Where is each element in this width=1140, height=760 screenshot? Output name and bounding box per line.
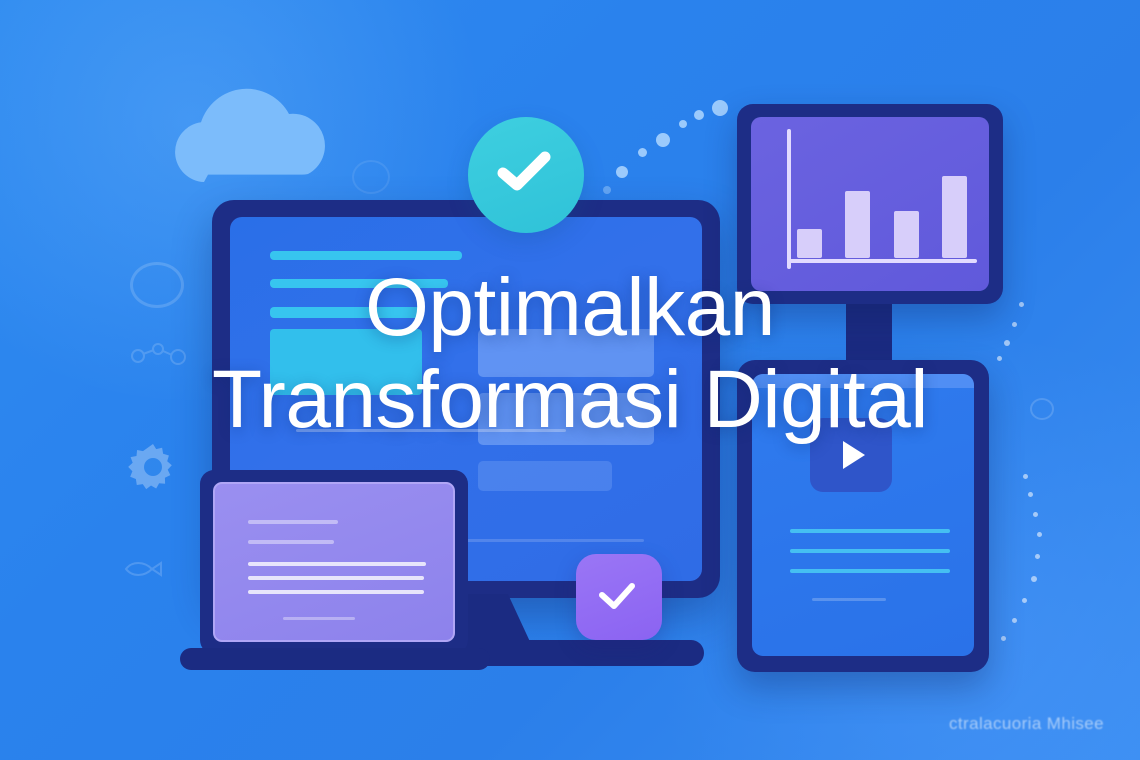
monitor-panel: [478, 393, 654, 445]
decorative-dot: [1023, 474, 1028, 479]
decorative-dot: [1012, 322, 1017, 327]
check-trend-icon: [596, 580, 642, 614]
video-tablet: [737, 360, 989, 672]
tablet-faint-line: [812, 598, 886, 601]
decorative-dot: [1035, 554, 1040, 559]
tablet-top-strip: [752, 374, 974, 388]
tablet-placeholder-line: [790, 569, 950, 573]
fish-icon: [122, 556, 164, 582]
chart-bar: [942, 176, 967, 258]
chart-y-axis: [787, 129, 791, 269]
tablet-placeholder-line: [790, 529, 950, 533]
gear-icon: [126, 440, 180, 494]
monitor-placeholder-line: [270, 307, 420, 318]
tablet-placeholder-line: [790, 549, 950, 553]
chart-bars: [797, 160, 967, 258]
decorative-dot: [712, 100, 728, 116]
decorative-dot: [1012, 618, 1017, 623]
decorative-ring: [1030, 398, 1054, 420]
laptop-base: [180, 648, 490, 670]
monitor-placeholder-line: [270, 279, 448, 288]
decorative-dot: [1022, 598, 1027, 603]
decorative-dot: [694, 110, 704, 120]
decorative-dot: [603, 186, 611, 194]
decorative-dot: [1001, 636, 1006, 641]
laptop-placeholder-line: [248, 576, 424, 580]
growth-badge[interactable]: [468, 117, 584, 233]
chart-bar: [894, 211, 919, 258]
decorative-ring: [130, 262, 184, 308]
decorative-dot: [1028, 492, 1033, 497]
decorative-dot: [997, 356, 1002, 361]
decorative-dot: [1037, 532, 1042, 537]
chart-bar: [797, 229, 822, 258]
monitor-faint-line: [296, 429, 566, 432]
chart-bar: [845, 191, 870, 258]
analytics-monitor: [737, 104, 1003, 304]
molecule-icon: [128, 340, 190, 366]
decorative-dot: [1033, 512, 1038, 517]
decorative-dot: [1031, 576, 1037, 582]
monitor-panel: [478, 329, 654, 377]
play-icon: [843, 441, 865, 469]
decorative-ring: [352, 160, 390, 194]
decorative-dot: [1004, 340, 1010, 346]
monitor-content-block: [270, 329, 422, 395]
growth-trend-icon: [495, 147, 557, 203]
laptop: [200, 470, 468, 654]
watermark: ctralacuoria Mhisee: [949, 714, 1104, 734]
tablet-screen: [752, 374, 974, 656]
decorative-dot: [656, 133, 670, 147]
decorative-dot: [616, 166, 628, 178]
laptop-placeholder-line: [248, 562, 426, 566]
laptop-placeholder-line: [248, 520, 338, 524]
laptop-placeholder-line: [248, 540, 334, 544]
chart-x-axis: [787, 259, 977, 263]
play-button[interactable]: [810, 418, 892, 492]
laptop-faint-line: [283, 617, 355, 620]
cloud-icon: [147, 78, 343, 190]
laptop-screen: [213, 482, 455, 642]
check-badge[interactable]: [576, 554, 662, 640]
laptop-placeholder-line: [248, 590, 424, 594]
decorative-dot: [679, 120, 687, 128]
monitor-panel: [478, 461, 612, 491]
decorative-dot: [638, 148, 647, 157]
monitor-placeholder-line: [270, 251, 462, 260]
decorative-dot: [1019, 302, 1024, 307]
chart-monitor-neck: [846, 300, 892, 362]
bar-chart: [751, 117, 989, 291]
hero-banner: Optimalkan Transformasi Digital ctralacu…: [0, 0, 1140, 760]
